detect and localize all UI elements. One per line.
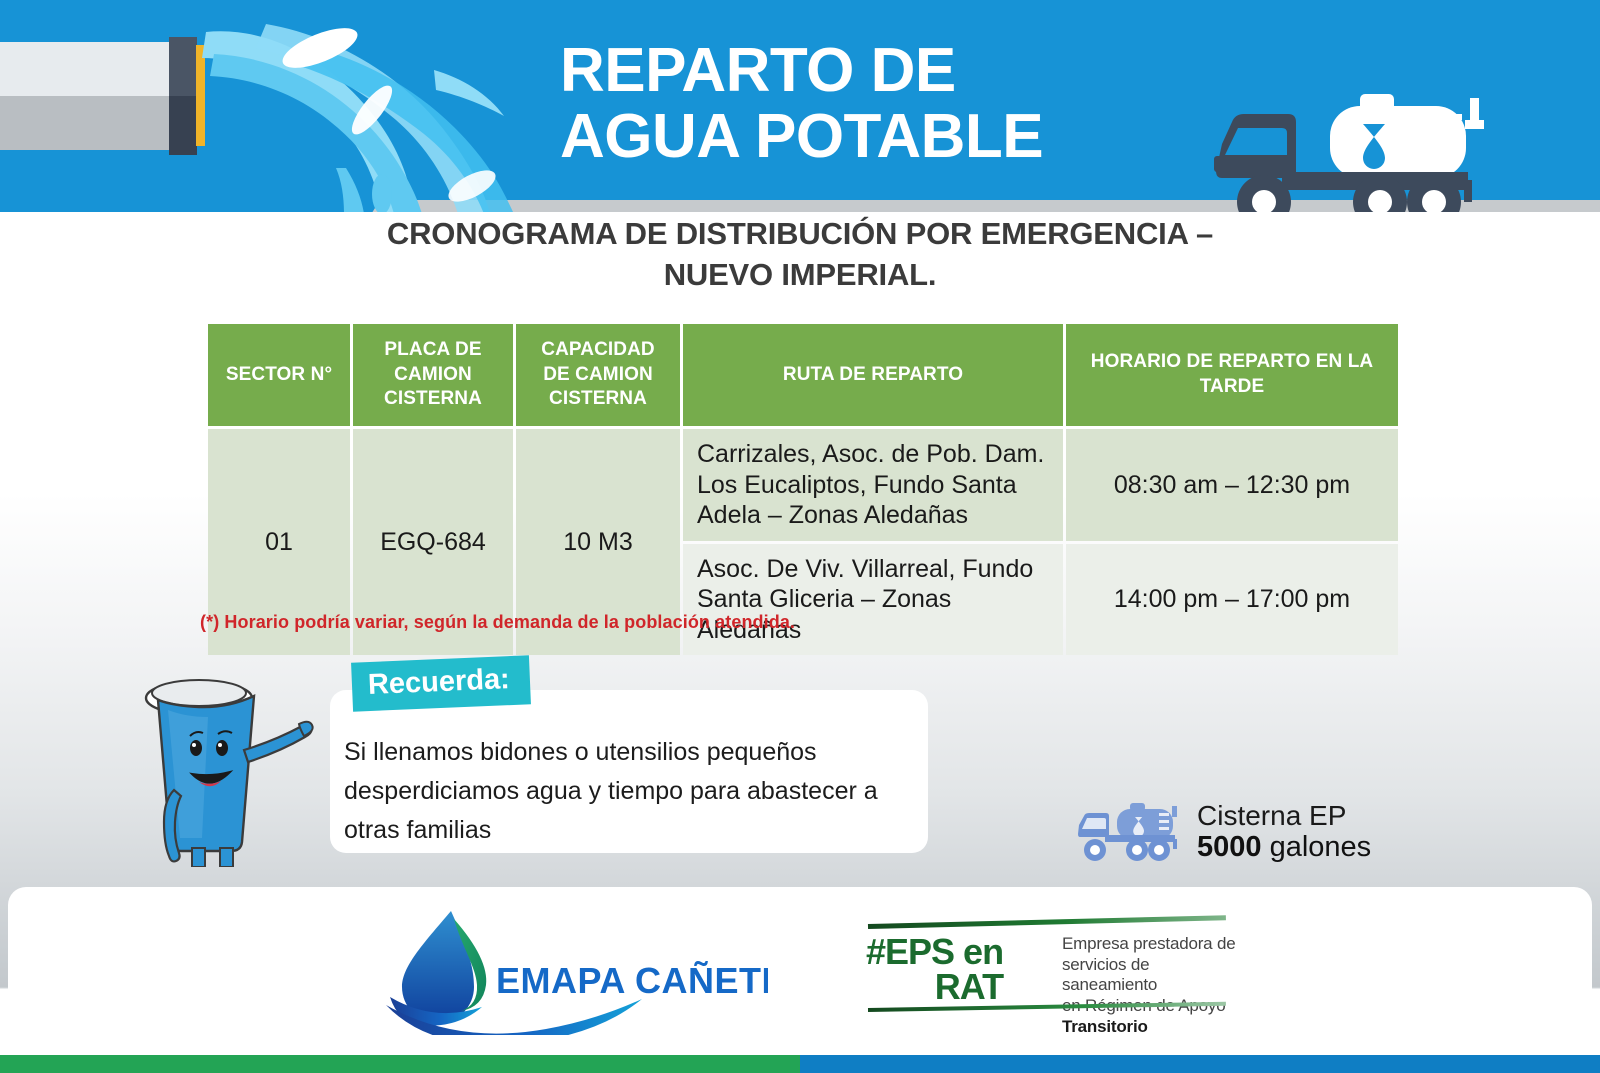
table-row: 01 EGQ-684 10 M3 Carrizales, Asoc. de Po… — [208, 429, 1398, 541]
bottom-color-strip — [0, 1055, 1600, 1073]
col-header-placa: PLACA DE CAMION CISTERNA — [353, 324, 513, 426]
emapa-logo-text: EMAPA CAÑETE S.A. — [496, 959, 768, 1001]
subtitle: CRONOGRAMA DE DISTRIBUCIÓN POR EMERGENCI… — [0, 213, 1600, 295]
title-line-2: AGUA POTABLE — [560, 104, 1220, 170]
pipe-collar-bottom — [169, 96, 197, 155]
col-header-capacidad-l3: CISTERNA — [524, 387, 672, 412]
pipe-collar-top — [169, 37, 197, 96]
col-header-sector-label: SECTOR N° — [226, 364, 332, 385]
cisterna-capacity-block: Cisterna EP 5000 galones — [1075, 800, 1371, 864]
col-header-capacidad: CAPACIDAD DE CAMION CISTERNA — [516, 324, 680, 426]
col-header-horario-l1: HORARIO DE REPARTO EN LA — [1074, 350, 1390, 375]
emapa-waterdrop-logo: EMAPA CAÑETE S.A. — [378, 905, 768, 1035]
cell-horario: 08:30 am – 12:30 pm — [1066, 429, 1398, 541]
col-header-placa-l2: CAMION — [361, 363, 505, 388]
poster-root: REPARTO DE AGUA POTABLE CRONOGRAMA DE DI… — [0, 0, 1600, 1073]
eps-tagline-l2: RAT — [866, 969, 1003, 1004]
subtitle-line-2: NUEVO IMPERIAL. — [0, 254, 1600, 295]
pipe-icon — [0, 42, 194, 150]
bottom-strip-green — [0, 1055, 800, 1073]
col-header-horario-l2: TARDE — [1074, 375, 1390, 400]
cisterna-label: Cisterna EP — [1197, 800, 1371, 831]
pipe-body-top — [0, 42, 174, 96]
col-header-capacidad-l2: DE CAMION — [524, 363, 672, 388]
page-title: REPARTO DE AGUA POTABLE — [560, 38, 1220, 171]
pipe-body-bottom — [0, 96, 174, 150]
col-header-sector: SECTOR N° — [208, 324, 350, 426]
eps-tagline-l1: #EPS en — [866, 934, 1003, 969]
cistern-truck-icon — [1075, 801, 1183, 863]
cell-ruta: Asoc. De Viv. Villarreal, Fundo Santa Gl… — [683, 544, 1063, 656]
eps-tagline: #EPS en RAT — [866, 934, 1003, 1005]
water-tanker-truck-icon — [1212, 84, 1492, 212]
eps-rule-top — [868, 915, 1226, 929]
col-header-placa-l1: PLACA DE — [361, 338, 505, 363]
table-header-row: SECTOR N° PLACA DE CAMION CISTERNA CAPAC… — [208, 324, 1398, 426]
title-line-1: REPARTO DE — [560, 38, 1220, 104]
eps-en-rat-logo: #EPS en RAT Empresa prestadora de servic… — [866, 912, 1236, 1017]
subtitle-line-1: CRONOGRAMA DE DISTRIBUCIÓN POR EMERGENCI… — [0, 213, 1600, 254]
cisterna-amount-number: 5000 — [1197, 831, 1262, 863]
cisterna-amount: 5000 galones — [1197, 831, 1371, 863]
bottom-strip-blue — [800, 1055, 1600, 1073]
recuerda-badge: Recuerda: — [351, 655, 531, 711]
cisterna-amount-unit: galones — [1262, 831, 1372, 863]
header-banner: REPARTO DE AGUA POTABLE — [0, 0, 1600, 212]
schedule-footnote: (*) Horario podría variar, según la dema… — [200, 612, 795, 633]
eps-desc-l2: servicios de saneamiento — [1062, 955, 1236, 996]
eps-desc-l4: Transitorio — [1062, 1017, 1148, 1036]
col-header-ruta-label: RUTA DE REPARTO — [783, 364, 963, 385]
blue-bucket-mascot-icon — [136, 662, 336, 867]
footer-card — [8, 887, 1592, 1045]
eps-desc-l1: Empresa prestadora de — [1062, 934, 1236, 955]
recuerda-message: Si llenamos bidones o utensilios pequeño… — [344, 733, 904, 849]
col-header-ruta: RUTA DE REPARTO — [683, 324, 1063, 426]
col-header-capacidad-l1: CAPACIDAD — [524, 338, 672, 363]
distribution-schedule-table: SECTOR N° PLACA DE CAMION CISTERNA CAPAC… — [205, 321, 1401, 658]
cell-ruta: Carrizales, Asoc. de Pob. Dam. Los Eucal… — [683, 429, 1063, 541]
eps-description: Empresa prestadora de servicios de sanea… — [1062, 934, 1236, 1038]
col-header-placa-l3: CISTERNA — [361, 387, 505, 412]
water-splash-icon — [196, 18, 556, 212]
cisterna-text: Cisterna EP 5000 galones — [1197, 800, 1371, 864]
cell-horario: 14:00 pm – 17:00 pm — [1066, 544, 1398, 656]
col-header-horario: HORARIO DE REPARTO EN LA TARDE — [1066, 324, 1398, 426]
